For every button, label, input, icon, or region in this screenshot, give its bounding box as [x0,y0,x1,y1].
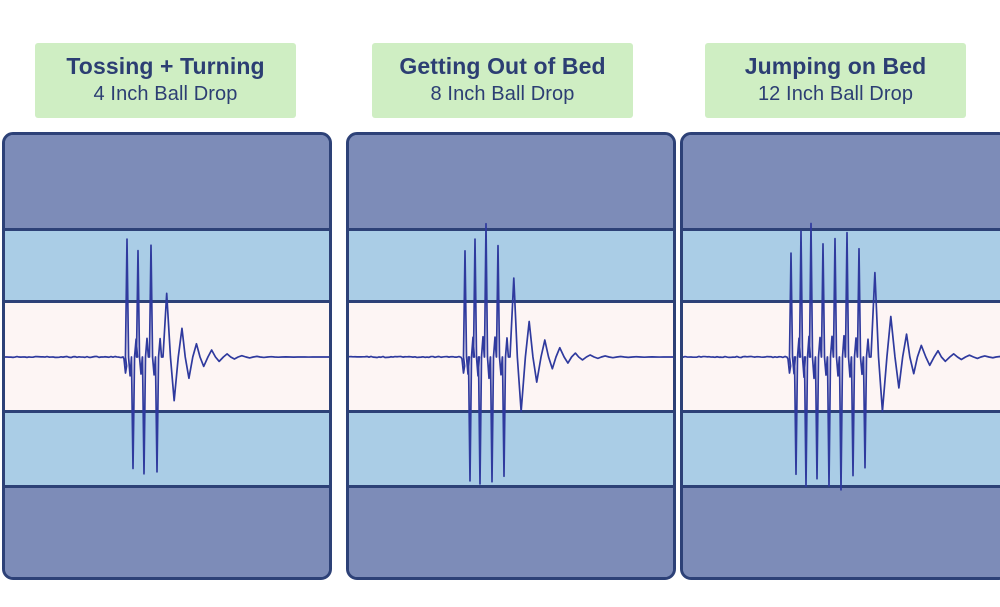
seismograph-panel-tossing-turning [2,132,332,580]
panel-header-badge-tossing-turning: Tossing + Turning 4 Inch Ball Drop [35,43,296,118]
seismograph-trace-12in [683,135,1000,577]
badge-title: Getting Out of Bed [372,52,633,81]
panel-header-badge-getting-out-of-bed: Getting Out of Bed 8 Inch Ball Drop [372,43,633,118]
badge-subtitle: 12 Inch Ball Drop [705,81,966,108]
seismograph-panel-getting-out-of-bed [346,132,676,580]
badge-title: Tossing + Turning [35,52,296,81]
badge-subtitle: 8 Inch Ball Drop [372,81,633,108]
seismograph-panel-jumping-on-bed [680,132,1000,580]
badge-title: Jumping on Bed [705,52,966,81]
panel-header-badge-jumping-on-bed: Jumping on Bed 12 Inch Ball Drop [705,43,966,118]
badge-subtitle: 4 Inch Ball Drop [35,81,296,108]
infographic-stage: Tossing + Turning 4 Inch Ball Drop Getti… [0,0,1000,607]
seismograph-trace-4in [5,135,329,577]
seismograph-trace-8in [349,135,673,577]
